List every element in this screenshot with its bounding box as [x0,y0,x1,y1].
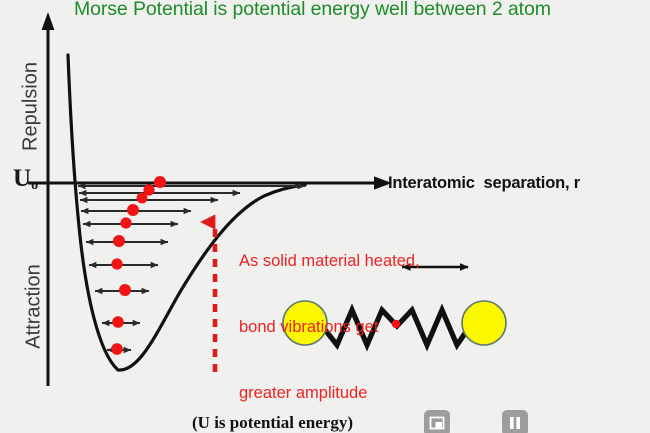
u-zero-label: Uo [13,165,38,193]
u-zero-subscript: o [31,178,38,193]
energy-level-dot [113,235,125,247]
energy-level-dot [111,343,123,355]
annotation-line-1: As solid material heated, [239,250,420,272]
pause-glyph [502,410,528,433]
u-zero-letter: U [13,165,31,192]
annotation-line-3: greater amplitude [239,382,420,404]
annotation-line-2: bond vibrations get [239,316,420,338]
energy-level-dot [119,284,131,296]
energy-level-dot [127,204,139,216]
pause-icon[interactable] [502,410,528,433]
energy-level-dot [137,193,148,204]
energy-level-dot [120,217,131,228]
slide-canvas: Morse Potential is potential energy well… [0,0,650,433]
energy-level-dot [112,316,124,328]
energy-level-dot [111,258,122,269]
annotation-text: As solid material heated, bond vibration… [239,206,420,433]
y-axis-arrowhead [42,12,55,30]
caption-note: (U is potential energy) [192,413,353,433]
energy-level-dot [154,176,166,188]
picture-in-picture-icon[interactable] [424,410,450,433]
slide-title: Morse Potential is potential energy well… [74,0,551,21]
y-axis-label-repulsion: Repulsion [20,47,43,167]
atom-right [462,301,506,345]
x-axis-label: Interatomic separation, r [388,174,580,193]
x-axis [28,176,392,189]
pip-glyph [424,410,450,433]
y-axis-label-attraction: Attraction [23,247,46,367]
